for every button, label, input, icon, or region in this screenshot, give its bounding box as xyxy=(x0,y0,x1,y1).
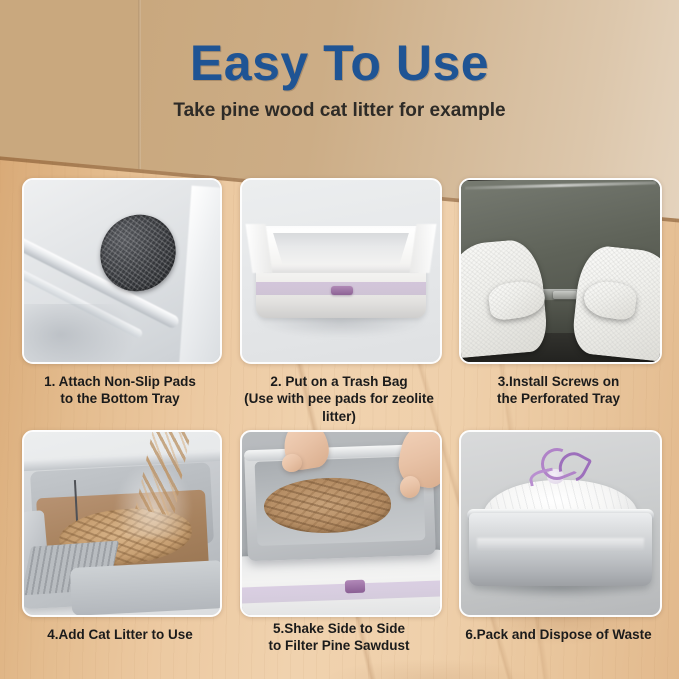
step-2-caption-line1: 2. Put on a Trash Bag xyxy=(230,373,448,390)
step-1-caption: 1. Attach Non-Slip Pads to the Bottom Tr… xyxy=(12,373,228,408)
step-3-image[interactable] xyxy=(459,178,662,364)
photo-install-screws xyxy=(461,180,660,362)
step-2-image[interactable] xyxy=(240,178,442,364)
photo-shake-sift xyxy=(242,432,440,615)
step-5-caption-line1: 5.Shake Side to Side xyxy=(230,620,448,637)
photo-add-litter xyxy=(24,432,220,615)
step-5-caption: 5.Shake Side to Side to Filter Pine Sawd… xyxy=(230,620,448,655)
step-2-caption-line2: (Use with pee pads for zeolite litter) xyxy=(230,390,448,425)
tray-shine xyxy=(477,538,644,551)
step-4-image[interactable] xyxy=(22,430,222,617)
step-6-caption-line1: 6.Pack and Dispose of Waste xyxy=(449,626,668,643)
purple-tab xyxy=(345,580,365,594)
step-3-caption-line1: 3.Install Screws on xyxy=(449,373,668,390)
step-2-caption: 2. Put on a Trash Bag (Use with pee pads… xyxy=(230,373,448,425)
step-3-caption: 3.Install Screws on the Perforated Tray xyxy=(449,373,668,408)
step-4-caption: 4.Add Cat Litter to Use xyxy=(12,626,228,643)
step-4-caption-line1: 4.Add Cat Litter to Use xyxy=(12,626,228,643)
step-1-caption-line2: to the Bottom Tray xyxy=(12,390,228,407)
litter-box-front-wall xyxy=(70,560,222,616)
step-6-image[interactable] xyxy=(459,430,662,617)
step-3-caption-line2: the Perforated Tray xyxy=(449,390,668,407)
tray-cavity xyxy=(264,233,418,264)
step-1-image[interactable] xyxy=(22,178,222,364)
page-subtitle: Take pine wood cat litter for example xyxy=(0,100,679,122)
step-1-caption-line1: 1. Attach Non-Slip Pads xyxy=(12,373,228,390)
infographic-canvas: Easy To Use Take pine wood cat litter fo… xyxy=(0,0,679,679)
step-6-caption: 6.Pack and Dispose of Waste xyxy=(449,626,668,643)
page-title: Easy To Use xyxy=(0,34,679,92)
step-5-image[interactable] xyxy=(240,430,442,617)
purple-tab xyxy=(331,286,353,295)
tray-shadow xyxy=(22,304,134,364)
photo-trash-bag-liner xyxy=(242,180,440,362)
photo-dispose-waste xyxy=(461,432,660,615)
photo-nonslip-pad xyxy=(24,180,220,362)
screw-icon xyxy=(553,291,577,299)
step-5-caption-line2: to Filter Pine Sawdust xyxy=(230,637,448,654)
